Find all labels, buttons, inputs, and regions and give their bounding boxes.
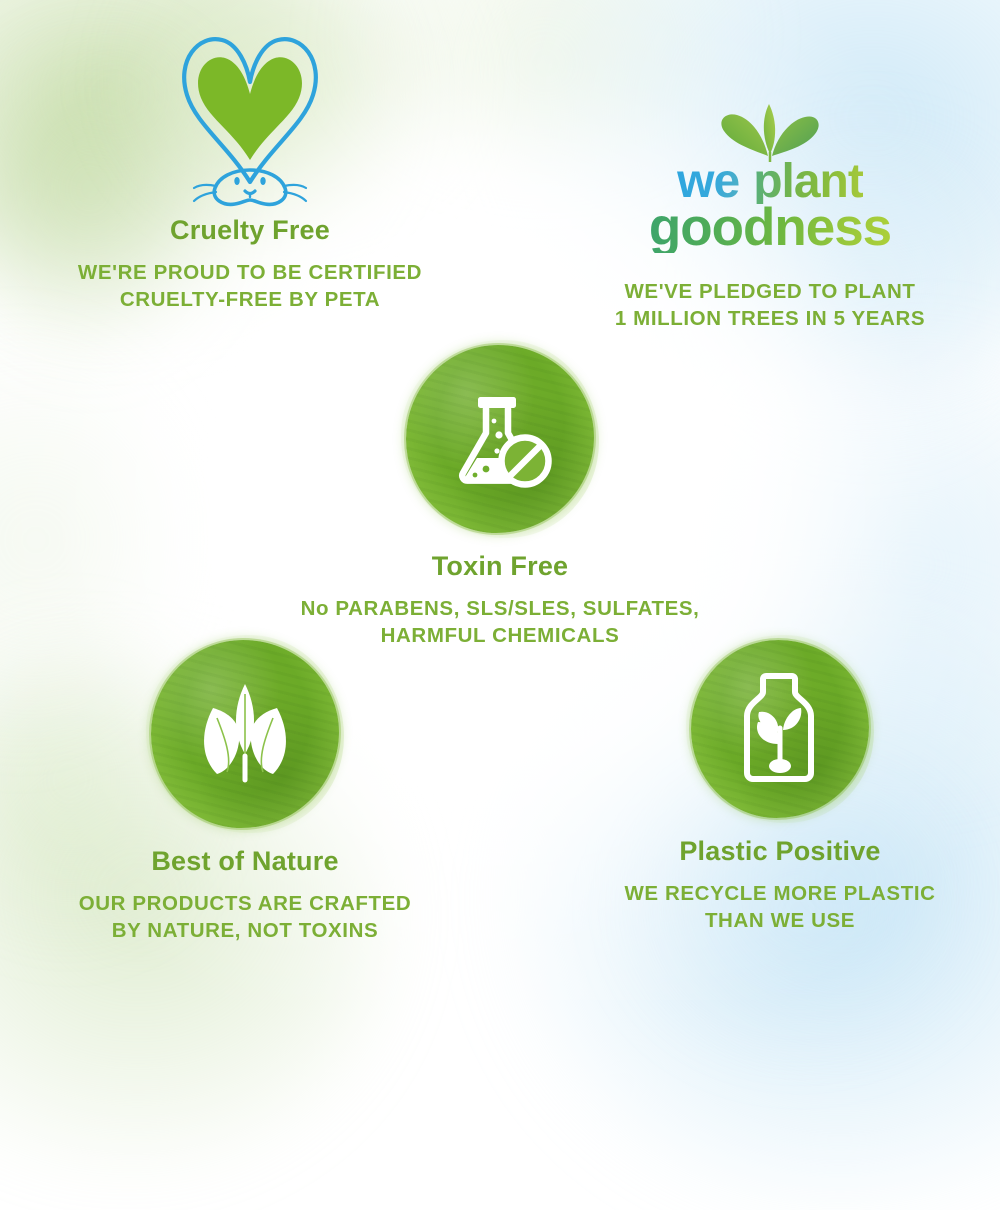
logo-word-goodness: goodness bbox=[649, 204, 891, 253]
badge-block-plastic-positive: Plastic Positive WE RECYCLE MORE PLASTIC… bbox=[565, 640, 995, 934]
badge-subtitle: WE'VE PLEDGED TO PLANT 1 MILLION TREES I… bbox=[540, 279, 1000, 332]
three-leaves-icon bbox=[187, 676, 303, 792]
infographic-stage: Cruelty Free WE'RE PROUD TO BE CERTIFIED… bbox=[0, 0, 1000, 1000]
sprout-leaves-icon bbox=[540, 100, 1000, 160]
badge-subtitle-line: OUR PRODUCTS ARE CRAFTED bbox=[15, 891, 475, 918]
plastic-positive-badge-circle bbox=[691, 640, 869, 818]
badge-title: Cruelty Free bbox=[20, 215, 480, 246]
badge-title: Best of Nature bbox=[15, 846, 475, 877]
badge-subtitle-line: BY NATURE, NOT TOXINS bbox=[15, 918, 475, 945]
logo-line-two: goodness bbox=[540, 204, 1000, 253]
badge-subtitle-line: 1 MILLION TREES IN 5 YEARS bbox=[540, 306, 1000, 333]
best-of-nature-badge-circle bbox=[151, 640, 339, 828]
badge-subtitle-line: No PARABENS, SLS/SLES, SULFATES, bbox=[270, 596, 730, 623]
badge-block-toxin-free: Toxin Free No PARABENS, SLS/SLES, SULFAT… bbox=[270, 345, 730, 649]
badge-subtitle-line: WE'VE PLEDGED TO PLANT bbox=[540, 279, 1000, 306]
badge-block-we-plant-goodness: weplant goodness WE'VE PLEDGED TO PLANT … bbox=[540, 100, 1000, 332]
badge-block-best-of-nature: Best of Nature OUR PRODUCTS ARE CRAFTED … bbox=[15, 640, 475, 944]
bunny-heart-ears-icon bbox=[20, 20, 480, 215]
badge-subtitle-line: CRUELTY-FREE BY PETA bbox=[20, 287, 480, 314]
brand-logo-text: weplant goodness bbox=[540, 160, 1000, 253]
toxin-free-badge-circle bbox=[406, 345, 594, 533]
badge-title: Plastic Positive bbox=[565, 836, 995, 867]
badge-subtitle-line: WE RECYCLE MORE PLASTIC bbox=[565, 881, 995, 908]
bottle-sprout-icon bbox=[730, 668, 830, 790]
badge-subtitle: WE RECYCLE MORE PLASTIC THAN WE USE bbox=[565, 881, 995, 934]
badge-block-cruelty-free: Cruelty Free WE'RE PROUD TO BE CERTIFIED… bbox=[20, 20, 480, 313]
flask-no-entry-icon bbox=[446, 385, 554, 493]
badge-subtitle: WE'RE PROUD TO BE CERTIFIED CRUELTY-FREE… bbox=[20, 260, 480, 313]
badge-subtitle-line: WE'RE PROUD TO BE CERTIFIED bbox=[20, 260, 480, 287]
badge-subtitle-line: THAN WE USE bbox=[565, 908, 995, 935]
badge-title: Toxin Free bbox=[270, 551, 730, 582]
badge-subtitle: OUR PRODUCTS ARE CRAFTED BY NATURE, NOT … bbox=[15, 891, 475, 944]
